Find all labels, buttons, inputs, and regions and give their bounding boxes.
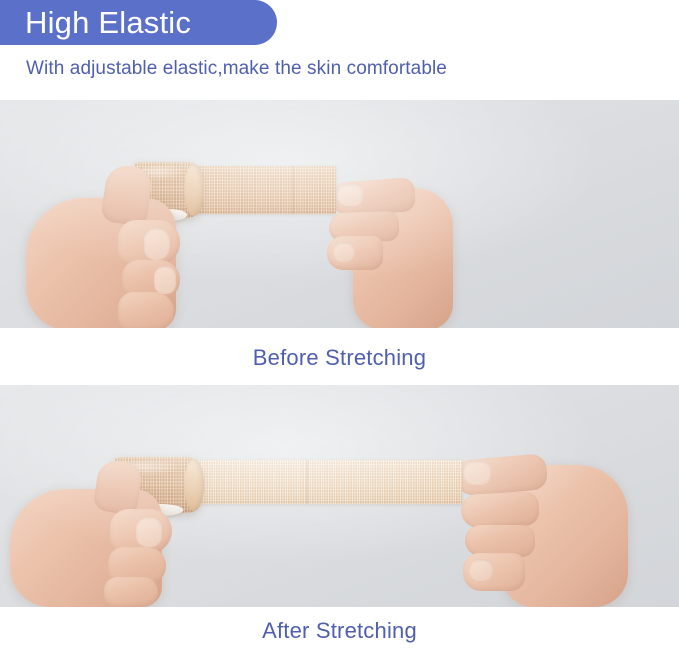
title-badge: High Elastic: [0, 0, 277, 45]
right-hand-after: [455, 453, 635, 607]
header: High Elastic With adjustable elastic,mak…: [0, 0, 679, 100]
photo-before-stretching: [0, 100, 679, 328]
right-hand-before: [325, 170, 470, 328]
left-thumb-nail: [144, 228, 170, 260]
bandage-strip-before: [196, 166, 336, 214]
photo-after-stretching: [0, 385, 679, 607]
product-feature-image: High Elastic With adjustable elastic,mak…: [0, 0, 679, 650]
left-ring-finger: [118, 292, 174, 328]
left-middle-nail: [154, 266, 176, 294]
left-ring-finger-after: [104, 577, 158, 607]
left-index-finger: [100, 163, 154, 227]
strip-seam-after: [306, 460, 309, 504]
right-index-nail: [337, 184, 363, 206]
caption-before-stretching: Before Stretching: [0, 345, 679, 371]
left-hand-after: [10, 461, 190, 607]
subtitle-text: With adjustable elastic,make the skin co…: [26, 58, 447, 80]
right-thumb-nail-after: [469, 559, 493, 581]
left-index-finger-after: [92, 458, 144, 516]
right-middle-finger-after: [460, 491, 540, 529]
left-thumb-nail-after: [136, 517, 162, 547]
title-badge-label: High Elastic: [0, 7, 191, 38]
right-index-nail-after: [463, 461, 491, 485]
bandage-strip-after: [196, 460, 462, 504]
caption-after-stretching: After Stretching: [0, 618, 679, 644]
right-thumb-nail: [333, 242, 355, 262]
strip-seam: [292, 166, 295, 214]
left-hand-before: [26, 166, 206, 328]
